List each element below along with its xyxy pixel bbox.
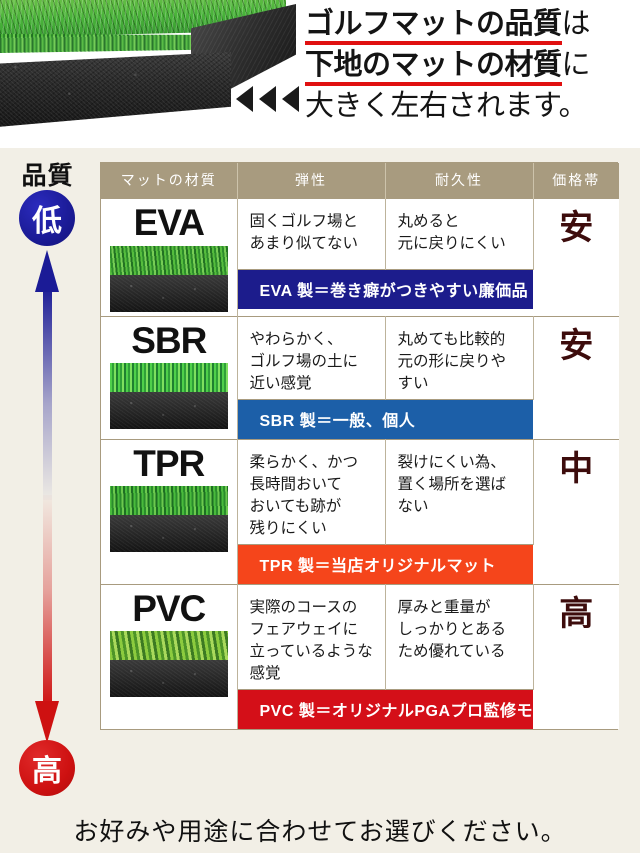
table-row: PVC 実際のコースの フェアウェイに 立っているような 感覚 厚みと重量が し… — [101, 584, 619, 689]
price-cell-sbr: 安 — [533, 316, 619, 439]
hero-headline-tail-3: 大きく左右されます。 — [305, 90, 587, 122]
banner-eva: EVA 製＝巻き癖がつきやすい廉価品 — [238, 270, 534, 309]
column-header-durability: 耐久性 — [385, 163, 533, 199]
swatch-base-layer — [110, 392, 228, 429]
mat-comparison-table: マットの材質 弾性 耐久性 価格帯 EVA 固くゴルフ場と あまり似てない 丸め… — [101, 163, 619, 729]
pvc-mat-swatch — [110, 631, 228, 697]
material-cell-tpr: TPR — [101, 439, 237, 584]
durability-cell-sbr: 丸めても比較的 元の形に戻りや すい — [385, 316, 533, 399]
tpr-mat-swatch — [110, 486, 228, 552]
quality-up-arrow-shaft — [43, 286, 52, 500]
eva-mat-swatch — [110, 246, 228, 312]
table-row: TPR 柔らかく、かつ 長時間おいて おいても跡が 残りにくい 裂けにくい為、 … — [101, 439, 619, 544]
quality-high-badge: 高 — [19, 740, 75, 796]
quality-down-arrow-head — [35, 701, 59, 743]
comparison-table-wrapper: マットの材質 弾性 耐久性 価格帯 EVA 固くゴルフ場と あまり似てない 丸め… — [100, 162, 618, 730]
quality-down-arrow-shaft — [43, 495, 52, 707]
elasticity-cell-eva: 固くゴルフ場と あまり似てない — [237, 199, 385, 270]
hero-headline-line-2: 下地のマットの材質に — [305, 45, 635, 86]
material-name-pvc: PVC — [101, 589, 237, 630]
triangle-left-icon — [236, 86, 253, 112]
swatch-turf-layer — [110, 631, 228, 660]
hero-pointer-arrows — [236, 86, 299, 112]
quality-down-arrow-icon — [35, 495, 59, 743]
banner-pvc: PVC 製＝オリジナルPGAプロ監修モデル — [238, 690, 534, 729]
banner-tpr: TPR 製＝当店オリジナルマット — [238, 545, 534, 584]
elasticity-cell-pvc: 実際のコースの フェアウェイに 立っているような 感覚 — [237, 584, 385, 689]
material-cell-pvc: PVC — [101, 584, 237, 729]
banner-container-sbr: SBR 製＝一般、個人 — [237, 399, 533, 439]
table-body: EVA 固くゴルフ場と あまり似てない 丸めると 元に戻りにくい 安 EVA 製… — [101, 199, 619, 729]
banner-container-eva: EVA 製＝巻き癖がつきやすい廉価品 — [237, 270, 533, 317]
price-cell-tpr: 中 — [533, 439, 619, 584]
hero-mat-photo — [0, 0, 300, 140]
banner-container-pvc: PVC 製＝オリジナルPGAプロ監修モデル — [237, 689, 533, 729]
mat-illustration — [0, 0, 286, 136]
durability-cell-tpr: 裂けにくい為、 置く場所を選ば ない — [385, 439, 533, 544]
quality-high-label: 高 — [32, 746, 62, 790]
swatch-turf-layer — [110, 246, 228, 275]
hero-headline-line-1: ゴルフマットの品質は — [305, 4, 635, 45]
hero-headline: ゴルフマットの品質は 下地のマットの材質に 大きく左右されます。 — [305, 4, 635, 128]
material-cell-eva: EVA — [101, 199, 237, 317]
sbr-mat-swatch — [110, 363, 228, 429]
quality-low-badge: 低 — [19, 190, 75, 246]
material-name-sbr: SBR — [101, 321, 237, 362]
quality-up-arrow-icon — [35, 250, 59, 500]
price-cell-eva: 安 — [533, 199, 619, 317]
elasticity-cell-sbr: やわらかく、 ゴルフ場の土に 近い感覚 — [237, 316, 385, 399]
table-header-row: マットの材質 弾性 耐久性 価格帯 — [101, 163, 619, 199]
hero-banner: ゴルフマットの品質は 下地のマットの材質に 大きく左右されます。 — [0, 0, 640, 148]
swatch-base-layer — [110, 515, 228, 552]
quality-axis-title: 品質 — [0, 156, 95, 192]
hero-headline-tail-2: に — [562, 49, 591, 81]
triangle-left-icon — [282, 86, 299, 112]
quality-up-arrow-head — [35, 250, 59, 292]
durability-cell-pvc: 厚みと重量が しっかりとある ため優れている — [385, 584, 533, 689]
hero-headline-emphasis-1: ゴルフマットの品質 — [305, 8, 562, 45]
swatch-base-layer — [110, 275, 228, 312]
table-row: EVA 固くゴルフ場と あまり似てない 丸めると 元に戻りにくい 安 — [101, 199, 619, 270]
column-header-price: 価格帯 — [533, 163, 619, 199]
quality-low-label: 低 — [32, 196, 62, 240]
durability-cell-eva: 丸めると 元に戻りにくい — [385, 199, 533, 270]
column-header-material: マットの材質 — [101, 163, 237, 199]
banner-sbr: SBR 製＝一般、個人 — [238, 400, 534, 439]
footer-caption: お好みや用途に合わせてお選びください。 — [0, 812, 640, 848]
triangle-left-icon — [259, 86, 276, 112]
quality-axis: 品質 低 高 — [0, 150, 95, 815]
material-name-tpr: TPR — [101, 444, 237, 485]
hero-headline-tail-1: は — [562, 8, 591, 40]
hero-headline-emphasis-2: 下地のマットの材質 — [305, 49, 562, 86]
banner-container-tpr: TPR 製＝当店オリジナルマット — [237, 544, 533, 584]
swatch-turf-layer — [110, 363, 228, 392]
swatch-base-layer — [110, 660, 228, 697]
elasticity-cell-tpr: 柔らかく、かつ 長時間おいて おいても跡が 残りにくい — [237, 439, 385, 544]
swatch-turf-layer — [110, 486, 228, 515]
material-name-eva: EVA — [101, 203, 237, 244]
mat-rubber-base — [0, 52, 231, 128]
hero-headline-line-3: 大きく左右されます。 — [305, 86, 635, 127]
table-row: SBR やわらかく、 ゴルフ場の土に 近い感覚 丸めても比較的 元の形に戻りや … — [101, 316, 619, 399]
column-header-elasticity: 弾性 — [237, 163, 385, 199]
material-cell-sbr: SBR — [101, 316, 237, 439]
